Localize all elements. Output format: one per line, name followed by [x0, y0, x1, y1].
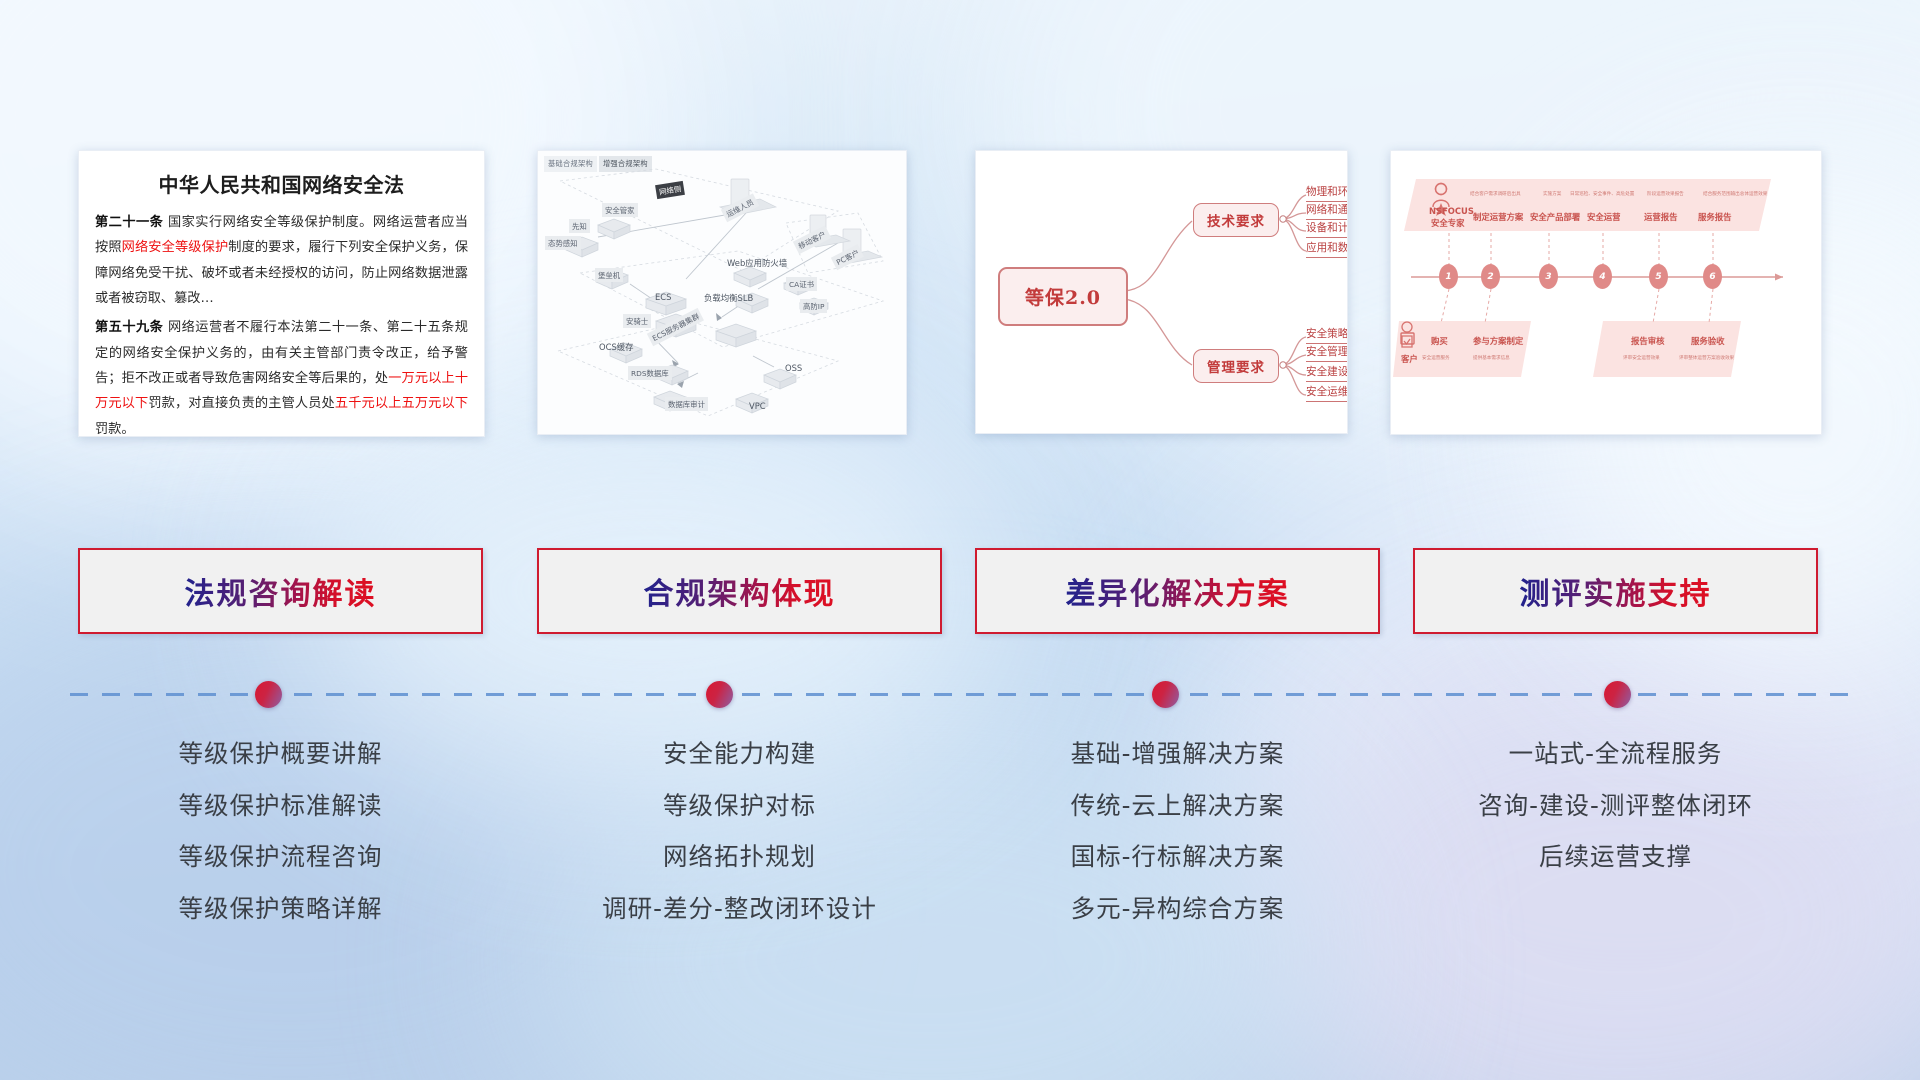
cloud-architecture-diagram: 基础合规架构 增强合规架构 [538, 151, 906, 434]
timeline-step-main: 参与方案制定 [1473, 335, 1523, 347]
dashed-timeline [70, 693, 1850, 696]
heading-box-assessment[interactable]: 测评实施支持 [1413, 548, 1818, 634]
arch-node-label: 安全管家 [602, 203, 638, 217]
nsfocus-role-line1: NSFOCUS [1429, 206, 1474, 216]
detail-column-assessment: 一站式-全流程服务 咨询-建设-测评整体闭环 后续运营支撑 [1413, 742, 1818, 897]
law-preview-card[interactable]: 中华人民共和国网络安全法 第二十一条 国家实行网络安全等级保护制度。网络运营者应… [78, 150, 485, 437]
law-text-highlight: 五千元以上五万元以下 [335, 396, 468, 411]
arch-node-label: 堡垒机 [595, 268, 623, 282]
timeline-step-main: 报告审核 [1631, 335, 1665, 347]
arch-node-label: 数据库审计 [665, 397, 708, 411]
law-text-highlight: 网络安全等级保护 [122, 240, 229, 255]
list-item: 后续运营支撑 [1413, 845, 1818, 870]
preview-card-row: 中华人民共和国网络安全法 第二十一条 国家实行网络安全等级保护制度。网络运营者应… [0, 150, 1920, 442]
arch-node-label: OCS缓存 [596, 339, 637, 354]
mindmap-preview-card[interactable]: 等保2.0 技术要求 管理要求 物理和环境安全 网络和通信安全 设备和计算安全 … [975, 150, 1348, 434]
mindmap-branch-management[interactable]: 管理要求 [1193, 349, 1279, 383]
list-item: 基础-增强解决方案 [975, 742, 1380, 767]
customer-role-label: 客户 [1401, 353, 1418, 365]
heading-label: 法规咨询解读 [185, 569, 377, 613]
arch-node-label: 态势感知 [545, 236, 581, 250]
timeline-step-sub: 提供基本需求信息 [1473, 355, 1510, 361]
heading-label: 差异化解决方案 [1066, 569, 1290, 613]
mindmap-leaf: 网络和通信安全 [1306, 202, 1348, 220]
timeline-step-main: 安全运营 [1587, 211, 1621, 223]
law-text: 罚款，对直接负责的主管人员处 [148, 396, 335, 411]
law-paragraph-2: 第五十九条 网络运营者不履行本法第二十一条、第二十五条规定的网络安全保护义务的，… [95, 315, 468, 437]
list-item: 咨询-建设-测评整体闭环 [1413, 794, 1818, 819]
heading-box-architecture[interactable]: 合规架构体现 [537, 548, 942, 634]
timeline-dot [1604, 681, 1631, 708]
law-title: 中华人民共和国网络安全法 [95, 169, 468, 198]
timeline-dot [255, 681, 282, 708]
arch-node-label: 高防IP [800, 299, 827, 313]
mindmap-leaf: 应用和数据安全 [1306, 240, 1348, 258]
heading-label: 合规架构体现 [644, 569, 836, 613]
timeline-dot [706, 681, 733, 708]
list-item: 等级保护对标 [537, 794, 942, 819]
list-item: 等级保护策略详解 [78, 897, 483, 922]
heading-box-regulation[interactable]: 法规咨询解读 [78, 548, 483, 634]
timeline-step-main: 安全产品部署 [1530, 211, 1580, 223]
mindmap-root-node[interactable]: 等保2.0 [998, 267, 1128, 326]
law-text: 罚款。 [95, 422, 135, 437]
section-heading-row: 法规咨询解读 合规架构体现 差异化解决方案 测评实施支持 [0, 548, 1920, 636]
list-item: 等级保护流程咨询 [78, 845, 483, 870]
timeline-milestone: 2 [1481, 264, 1500, 289]
arch-node-label: OSS [782, 361, 805, 374]
mindmap-leaf: 安全建设管理 [1306, 364, 1348, 382]
law-document: 中华人民共和国网络安全法 第二十一条 国家实行网络安全等级保护制度。网络运营者应… [79, 151, 484, 436]
timeline-step-main: 服务报告 [1698, 211, 1732, 223]
timeline-dot [1152, 681, 1179, 708]
mindmap-leaf: 安全管理机构和人员 [1306, 344, 1348, 362]
list-item: 安全能力构建 [537, 742, 942, 767]
law-article-label: 第二十一条 [95, 215, 163, 230]
arch-node-label: VPC [746, 399, 769, 412]
timeline-step-sub: 评审安全运营效果 [1623, 355, 1660, 361]
detail-column-regulation: 等级保护概要讲解 等级保护标准解读 等级保护流程咨询 等级保护策略详解 [78, 742, 483, 948]
timeline-step-main: 运营报告 [1644, 211, 1678, 223]
detail-column-solution: 基础-增强解决方案 传统-云上解决方案 国标-行标解决方案 多元-异构综合方案 [975, 742, 1380, 948]
nsfocus-preview-card[interactable]: 1 2 3 4 5 6 NSFOCUS 安全专家 结合客户需求调研后出具 制定运… [1390, 150, 1822, 435]
list-item: 等级保护概要讲解 [78, 742, 483, 767]
timeline-step-main: 服务验收 [1691, 335, 1725, 347]
list-item: 国标-行标解决方案 [975, 845, 1380, 870]
timeline-milestone: 1 [1439, 264, 1458, 289]
security-operation-timeline: 1 2 3 4 5 6 NSFOCUS 安全专家 结合客户需求调研后出具 制定运… [1391, 151, 1821, 434]
law-article-label: 第五十九条 [95, 320, 163, 335]
list-item: 传统-云上解决方案 [975, 794, 1380, 819]
timeline-step-sub: 阶段运营效果报告 [1647, 191, 1684, 197]
timeline-milestone: 4 [1593, 264, 1612, 289]
timeline-milestone: 3 [1539, 264, 1558, 289]
arch-node-label: ECS [652, 290, 674, 303]
timeline-step-sub: 结合客户需求调研后出具 [1470, 191, 1521, 197]
arch-node-label: 安骑士 [623, 314, 651, 328]
timeline-step-sub: 安全运营服务 [1422, 355, 1450, 361]
timeline-milestone: 5 [1649, 264, 1668, 289]
arch-node-label: Web应用防火墙 [724, 255, 790, 270]
detail-column-architecture: 安全能力构建 等级保护对标 网络拓扑规划 调研-差分-整改闭环设计 [537, 742, 942, 948]
list-item: 一站式-全流程服务 [1413, 742, 1818, 767]
nsfocus-role-line2: 安全专家 [1431, 217, 1465, 229]
heading-box-solution[interactable]: 差异化解决方案 [975, 548, 1380, 634]
arch-node-label: CA证书 [786, 277, 817, 291]
dengbao-mindmap: 等保2.0 技术要求 管理要求 物理和环境安全 网络和通信安全 设备和计算安全 … [976, 151, 1347, 433]
slide-canvas: 中华人民共和国网络安全法 第二十一条 国家实行网络安全等级保护制度。网络运营者应… [0, 0, 1920, 1080]
timeline-step-sub: 实施方案 [1543, 191, 1561, 197]
detail-list-row: 等级保护概要讲解 等级保护标准解读 等级保护流程咨询 等级保护策略详解 安全能力… [0, 742, 1920, 1042]
mindmap-leaf: 安全策略和管理制度 [1306, 326, 1348, 344]
list-item: 网络拓扑规划 [537, 845, 942, 870]
timeline-milestone: 6 [1703, 264, 1722, 289]
mindmap-leaf: 设备和计算安全 [1306, 220, 1348, 238]
arch-node-label: RDS数据库 [628, 366, 672, 380]
arch-node-label: 负载均衡SLB [701, 290, 756, 305]
architecture-preview-card[interactable]: 基础合规架构 增强合规架构 [537, 150, 907, 435]
timeline-step-main: 制定运营方案 [1473, 211, 1523, 223]
timeline-step-sub: 评审整体运营方案验收效果 [1679, 355, 1734, 361]
list-item: 多元-异构综合方案 [975, 897, 1380, 922]
heading-label: 测评实施支持 [1520, 569, 1712, 613]
list-item: 调研-差分-整改闭环设计 [537, 897, 942, 922]
timeline-step-main: 购买 [1431, 335, 1448, 347]
mindmap-leaf: 物理和环境安全 [1306, 184, 1348, 202]
arch-node-label: 先知 [569, 219, 590, 233]
timeline-step-sub: 结合服务范围输出总体运营效果 [1703, 191, 1767, 197]
law-paragraph-1: 第二十一条 国家实行网络安全等级保护制度。网络运营者应当按照网络安全等级保护制度… [95, 210, 468, 311]
mindmap-leaf: 安全运维管理 [1306, 384, 1348, 402]
mindmap-branch-technical[interactable]: 技术要求 [1193, 203, 1279, 237]
timeline-step-sub: 日常巡检、安全事件、高危处置 [1570, 191, 1634, 197]
list-item: 等级保护标准解读 [78, 794, 483, 819]
